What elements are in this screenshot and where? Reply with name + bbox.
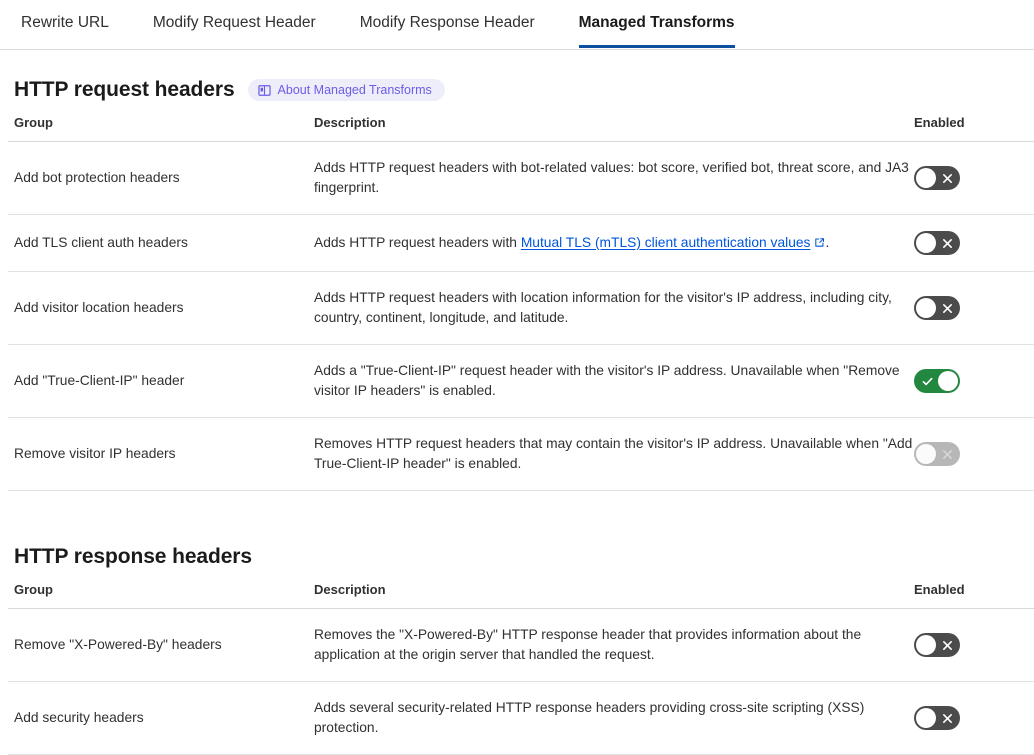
row-enabled-cell bbox=[914, 215, 1034, 272]
row-group-label: Add visitor location headers bbox=[8, 272, 314, 345]
row-enabled-cell bbox=[914, 272, 1034, 345]
tab-managed-transforms[interactable]: Managed Transforms bbox=[579, 0, 735, 47]
column-header-group: Group bbox=[8, 582, 314, 609]
row-group-label: Remove visitor IP headers bbox=[8, 418, 314, 491]
toggle-add-true-client-ip-header[interactable] bbox=[914, 369, 960, 393]
row-description: Adds HTTP request headers with location … bbox=[314, 272, 914, 345]
row-group-label: Remove "X-Powered-By" headers bbox=[8, 609, 314, 682]
page-title-response: HTTP response headers bbox=[14, 545, 252, 569]
toggle-knob bbox=[916, 168, 936, 188]
tab-bar: Rewrite URL Modify Request Header Modify… bbox=[0, 0, 1034, 50]
close-icon bbox=[934, 166, 960, 190]
row-enabled-cell bbox=[914, 418, 1034, 491]
close-icon bbox=[934, 231, 960, 255]
row-group-label: Add TLS client auth headers bbox=[8, 215, 314, 272]
about-badge-label: About Managed Transforms bbox=[278, 83, 432, 97]
mutual-tls-link[interactable]: Mutual TLS (mTLS) client authentication … bbox=[521, 235, 811, 250]
close-icon bbox=[934, 633, 960, 657]
table-row: Add visitor location headers Adds HTTP r… bbox=[8, 272, 1034, 345]
row-description: Removes HTTP request headers that may co… bbox=[314, 418, 914, 491]
close-icon bbox=[934, 296, 960, 320]
toggle-add-bot-protection-headers[interactable] bbox=[914, 166, 960, 190]
check-icon bbox=[914, 369, 940, 393]
row-enabled-cell bbox=[914, 609, 1034, 682]
row-description: Adds a "True-Client-IP" request header w… bbox=[314, 345, 914, 418]
section-divider-space bbox=[8, 491, 1026, 517]
toggle-knob bbox=[916, 708, 936, 728]
table-header-row: Group Description Enabled bbox=[8, 115, 1034, 142]
row-group-label: Add "True-Client-IP" header bbox=[8, 345, 314, 418]
row-enabled-cell bbox=[914, 682, 1034, 755]
tab-modify-request-header[interactable]: Modify Request Header bbox=[153, 0, 316, 47]
external-link-icon[interactable] bbox=[814, 234, 825, 254]
toggle-add-visitor-location-headers[interactable] bbox=[914, 296, 960, 320]
table-header-row: Group Description Enabled bbox=[8, 582, 1034, 609]
table-row: Add "True-Client-IP" header Adds a "True… bbox=[8, 345, 1034, 418]
request-headers-table: Group Description Enabled Add bot protec… bbox=[8, 115, 1034, 491]
page-content: HTTP request headers About Managed Trans… bbox=[0, 78, 1034, 755]
row-description: Adds HTTP request headers with Mutual TL… bbox=[314, 215, 914, 272]
row-description: Removes the "X-Powered-By" HTTP response… bbox=[314, 609, 914, 682]
request-section-header: HTTP request headers About Managed Trans… bbox=[14, 78, 1026, 102]
row-enabled-cell bbox=[914, 345, 1034, 418]
about-managed-transforms-badge[interactable]: About Managed Transforms bbox=[248, 79, 445, 101]
row-group-label: Add security headers bbox=[8, 682, 314, 755]
table-row: Add bot protection headers Adds HTTP req… bbox=[8, 142, 1034, 215]
row-group-label: Add bot protection headers bbox=[8, 142, 314, 215]
table-row: Remove "X-Powered-By" headers Removes th… bbox=[8, 609, 1034, 682]
toggle-knob bbox=[916, 298, 936, 318]
column-header-enabled: Enabled bbox=[914, 582, 1034, 609]
book-icon bbox=[258, 84, 271, 97]
toggle-add-tls-client-auth-headers[interactable] bbox=[914, 231, 960, 255]
toggle-knob bbox=[916, 635, 936, 655]
table-row: Add security headers Adds several securi… bbox=[8, 682, 1034, 755]
response-headers-table: Group Description Enabled Remove "X-Powe… bbox=[8, 582, 1034, 755]
toggle-remove-x-powered-by-headers[interactable] bbox=[914, 633, 960, 657]
row-description: Adds HTTP request headers with bot-relat… bbox=[314, 142, 914, 215]
response-section-header: HTTP response headers bbox=[14, 545, 1026, 569]
table-row: Add TLS client auth headers Adds HTTP re… bbox=[8, 215, 1034, 272]
toggle-knob bbox=[916, 444, 936, 464]
row-description-suffix: . bbox=[825, 235, 829, 250]
row-description-prefix: Adds HTTP request headers with bbox=[314, 235, 521, 250]
close-icon bbox=[934, 442, 960, 466]
column-header-group: Group bbox=[8, 115, 314, 142]
table-row: Remove visitor IP headers Removes HTTP r… bbox=[8, 418, 1034, 491]
toggle-add-security-headers[interactable] bbox=[914, 706, 960, 730]
toggle-knob bbox=[916, 233, 936, 253]
tab-modify-response-header[interactable]: Modify Response Header bbox=[360, 0, 535, 47]
page-title-request: HTTP request headers bbox=[14, 78, 235, 102]
tab-rewrite-url[interactable]: Rewrite URL bbox=[21, 0, 109, 47]
close-icon bbox=[934, 706, 960, 730]
column-header-enabled: Enabled bbox=[914, 115, 1034, 142]
column-header-description: Description bbox=[314, 582, 914, 609]
toggle-remove-visitor-ip-headers bbox=[914, 442, 960, 466]
toggle-knob bbox=[938, 371, 958, 391]
row-description: Adds several security-related HTTP respo… bbox=[314, 682, 914, 755]
row-enabled-cell bbox=[914, 142, 1034, 215]
column-header-description: Description bbox=[314, 115, 914, 142]
